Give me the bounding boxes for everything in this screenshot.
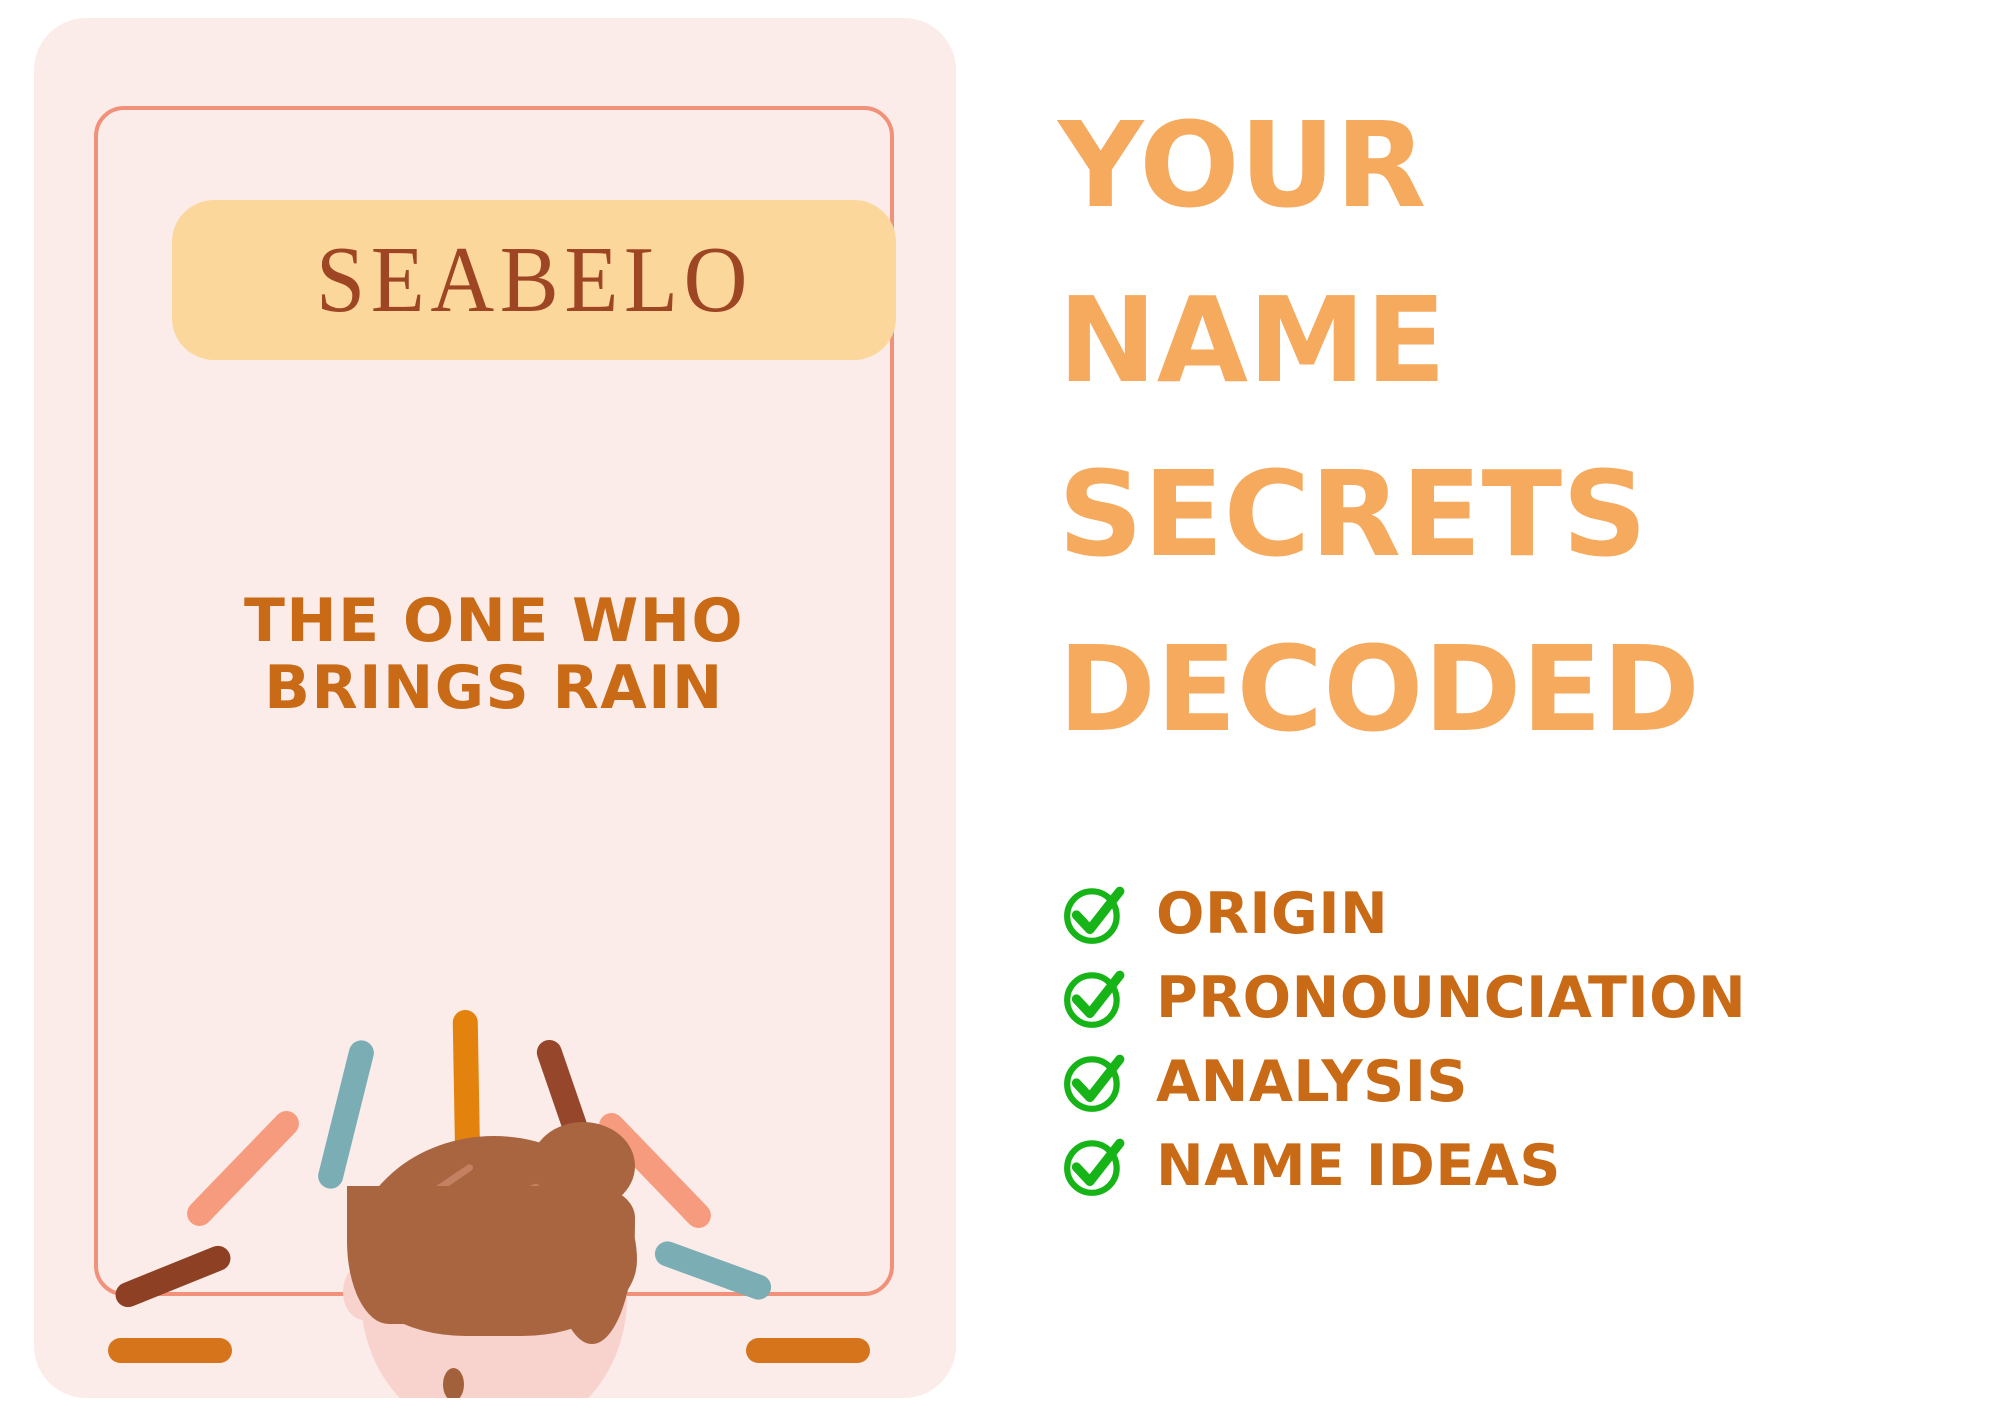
- checklist-item-label: ANALYSIS: [1156, 1054, 1468, 1111]
- checklist-item[interactable]: PRONOUNCIATION: [1062, 956, 1962, 1040]
- child-sunburst-illustration: [94, 868, 894, 1398]
- name-badge-label: SEABELO: [315, 233, 752, 327]
- headline-line-4: DECODED: [1058, 602, 1958, 777]
- checklist-item[interactable]: NAME IDEAS: [1062, 1124, 1962, 1208]
- tagline-line-1: THE ONE WHO: [94, 588, 894, 655]
- name-meaning-tagline: THE ONE WHO BRINGS RAIN: [94, 588, 894, 722]
- right-panel: YOUR NAME SECRETS DECODED ORIGINPRONOUNC…: [1040, 0, 1980, 1414]
- child-head-illustration: [339, 1114, 649, 1398]
- circle-check-icon: [1062, 881, 1128, 947]
- page-title: YOUR NAME SECRETS DECODED: [1058, 78, 1958, 777]
- checklist-item[interactable]: ORIGIN: [1062, 872, 1962, 956]
- poster-canvas: SEABELO THE ONE WHO BRINGS RAIN: [0, 0, 2000, 1414]
- name-card: SEABELO THE ONE WHO BRINGS RAIN: [34, 18, 956, 1398]
- headline-line-3: SECRETS: [1058, 427, 1958, 602]
- headline-line-2: NAME: [1058, 253, 1958, 428]
- circle-check-icon: [1062, 1049, 1128, 1115]
- circle-check-icon: [1062, 1133, 1128, 1199]
- checklist-item[interactable]: ANALYSIS: [1062, 1040, 1962, 1124]
- circle-check-icon: [1062, 965, 1128, 1031]
- ray-bottom-right-orange: [746, 1338, 870, 1363]
- headline-line-1: YOUR: [1058, 78, 1958, 253]
- checklist-item-label: PRONOUNCIATION: [1156, 970, 1746, 1027]
- ray-left-salmon: [182, 1106, 304, 1231]
- name-badge: SEABELO: [172, 200, 896, 360]
- feature-checklist: ORIGINPRONOUNCIATIONANALYSISNAME IDEAS: [1062, 872, 1962, 1208]
- ray-bottom-left-orange: [108, 1338, 232, 1363]
- tagline-line-2: BRINGS RAIN: [94, 655, 894, 722]
- child-eye-left: [443, 1368, 464, 1398]
- checklist-item-label: ORIGIN: [1156, 886, 1388, 943]
- checklist-item-label: NAME IDEAS: [1156, 1138, 1561, 1195]
- ray-right-teal: [651, 1238, 774, 1303]
- ray-left-outer-brown: [112, 1242, 234, 1311]
